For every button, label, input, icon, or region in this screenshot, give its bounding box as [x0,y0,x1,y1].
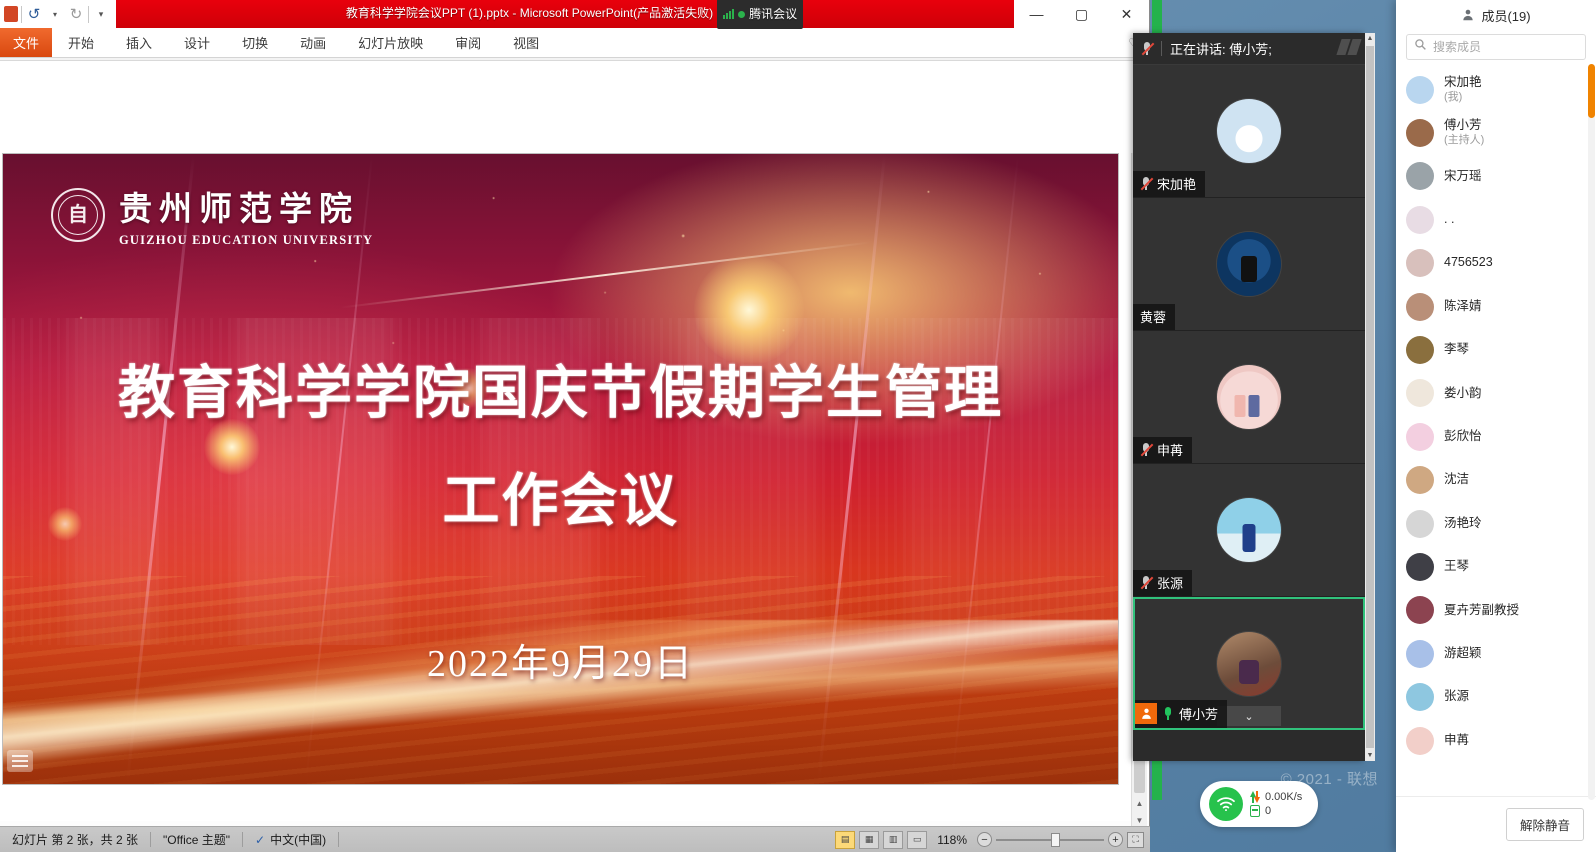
divider [1161,41,1162,56]
maximize-button[interactable]: ▢ [1059,0,1104,28]
search-input[interactable] [1433,40,1578,54]
video-tile-active-speaker[interactable]: ⌄ 傅小芳 [1133,597,1365,730]
network-speed-value: 0.00K/s [1265,791,1302,803]
tencent-meeting-badge[interactable]: 腾讯会议 [717,0,803,29]
status-language[interactable]: ✓ 中文(中国) [243,831,338,848]
unmute-button[interactable]: 解除静音 [1506,808,1584,841]
view-button-reading[interactable]: ▥ [883,831,903,849]
zoom-level-label[interactable]: 118% [931,833,973,847]
powerpoint-status-bar: 幻灯片 第 2 张，共 2 张 "Office 主题" ✓ 中文(中国) ▤ ▦… [0,826,1150,852]
member-name: 宋加艳 [1444,75,1482,91]
member-name: 申苒 [1444,733,1469,749]
tab-insert[interactable]: 插入 [110,28,168,57]
network-packets-row: 0 [1250,805,1302,817]
members-panel-header: 成员(19) [1396,0,1596,30]
zoom-slider[interactable] [996,833,1104,847]
avatar [1406,423,1434,451]
video-tile[interactable]: 申苒 [1133,331,1365,464]
view-button-slideshow[interactable]: ▭ [907,831,927,849]
slide-title-line-1: 教育科学学院国庆节假期学生管理 [3,340,1118,448]
list-item[interactable]: 游超颖 [1396,632,1596,675]
avatar [1406,553,1434,581]
member-name: 沈洁 [1444,472,1469,488]
tab-transitions[interactable]: 切换 [226,28,284,57]
fit-slide-to-window-button[interactable]: ⛶ [1127,832,1144,848]
member-name: 陈泽婧 [1444,299,1482,315]
powerpoint-titlebar: ↺ ▾ ↻ ▾ 教育科学学院会议PPT (1).pptx - Microsoft… [0,0,1149,28]
tencent-meeting-logo-icon [1339,39,1359,55]
meeting-video-filmstrip: 正在讲话: 傅小芳; 宋加艳 黄蓉 申苒 [1133,33,1365,761]
window-controls: — ▢ ✕ [1014,0,1149,28]
screen-root: © 2021 - 联想 ↺ ▾ ↻ ▾ 教育科学学院会议PPT (1).pptx… [0,0,1596,852]
slide-title-line-2: 工作会议 [3,448,1118,556]
close-button[interactable]: ✕ [1104,0,1149,28]
status-slide-count: 幻灯片 第 2 张，共 2 张 [0,831,150,848]
members-scrollbar-track[interactable] [1588,64,1595,800]
member-name: 彭欣怡 [1444,429,1482,445]
host-badge-icon [1135,703,1157,724]
list-item[interactable]: 宋万瑶 [1396,155,1596,198]
network-speed-row: 0.00K/s [1250,791,1302,803]
member-name: 夏卉芳副教授 [1444,603,1519,619]
customize-qat-icon[interactable]: ▾ [92,5,110,23]
powerpoint-logo-icon [4,6,18,22]
avatar [1217,99,1281,163]
avatar [1406,76,1434,104]
window-title: 教育科学学院会议PPT (1).pptx - Microsoft PowerPo… [0,0,1149,29]
powerpoint-window: ↺ ▾ ↻ ▾ 教育科学学院会议PPT (1).pptx - Microsoft… [0,0,1150,852]
video-tile-label: 黄蓉 [1133,304,1175,330]
list-item[interactable]: 王琴 [1396,545,1596,588]
mic-muted-icon [1140,176,1152,191]
window-title-text: 教育科学学院会议PPT (1).pptx - Microsoft PowerPo… [346,6,713,20]
tab-slideshow[interactable]: 幻灯片放映 [342,28,439,57]
zoom-out-button[interactable]: − [977,832,992,847]
previous-slide-icon[interactable]: ▲ [1136,799,1144,808]
scroll-down-icon[interactable]: ▼ [1367,750,1374,761]
slide-title[interactable]: 教育科学学院国庆节假期学生管理 工作会议 [3,340,1118,557]
tab-design[interactable]: 设计 [168,28,226,57]
list-item[interactable]: 汤艳玲 [1396,502,1596,545]
avatar [1406,683,1434,711]
participant-name: 张源 [1157,573,1183,592]
slideshow-overlay-menu-icon[interactable] [7,750,33,772]
members-search-row [1396,30,1596,68]
divider [88,6,89,23]
mic-muted-icon [1141,41,1153,56]
undo-dropdown-icon[interactable]: ▾ [46,5,64,23]
zoom-slider-handle[interactable] [1051,833,1060,847]
divider [338,832,339,847]
list-item[interactable]: 傅小芳 (主持人) [1396,111,1596,154]
view-button-slide-sorter[interactable]: ▦ [859,831,879,849]
participant-name: 宋加艳 [1157,174,1196,193]
network-speed-widget[interactable]: 0.00K/s 0 [1200,781,1318,827]
list-item[interactable]: 李琴 [1396,328,1596,371]
person-icon [1461,8,1475,22]
tab-view[interactable]: 视图 [497,28,555,57]
tab-animations[interactable]: 动画 [284,28,342,57]
filmstrip-scrollbar[interactable]: ▲ ▼ [1365,33,1375,761]
list-item[interactable]: 4756523 [1396,242,1596,285]
avatar [1406,640,1434,668]
tab-review[interactable]: 审阅 [439,28,497,57]
video-tile-label: 宋加艳 [1133,171,1205,197]
status-language-label: 中文(中国) [270,831,326,848]
member-name: 王琴 [1444,559,1469,575]
scroll-up-icon[interactable]: ▲ [1367,33,1374,44]
members-panel-footer: 解除静音 [1396,796,1596,852]
list-item[interactable]: 夏卉芳副教授 [1396,589,1596,632]
university-seal-icon: 自 [51,188,105,242]
recording-dot-icon [738,11,745,18]
member-role: (我) [1444,91,1482,105]
zoom-slider-track [996,839,1104,841]
filmstrip-header: 正在讲话: 傅小芳; [1133,33,1365,65]
video-tile-label: 申苒 [1133,437,1192,463]
ribbon-tab-bar: 文件 开始 插入 设计 切换 动画 幻灯片放映 审阅 视图 ♡ [0,28,1149,58]
list-item[interactable]: 沈洁 [1396,459,1596,502]
avatar [1406,293,1434,321]
members-list: 宋加艳 (我) 傅小芳 (主持人) 宋万瑶 . . 4 [1396,68,1596,796]
member-name: 游超颖 [1444,646,1482,662]
member-name: 4756523 [1444,255,1493,271]
mic-muted-icon [1140,442,1152,457]
scrollbar-thumb[interactable] [1366,46,1374,748]
member-role: (主持人) [1444,134,1484,148]
avatar [1406,162,1434,190]
slide-canvas-area: 自 贵州师范学院 GUIZHOU EDUCATION UNIVERSITY 教育… [0,61,1149,821]
avatar [1406,206,1434,234]
slide-date[interactable]: 2022年9月29日 [3,632,1118,687]
quick-access-toolbar: ↺ ▾ ↻ ▾ [0,0,116,28]
participant-name: 黄蓉 [1140,307,1166,326]
avatar [1406,510,1434,538]
avatar [1217,232,1281,296]
list-item[interactable]: 彭欣怡 [1396,415,1596,458]
status-theme[interactable]: "Office 主题" [151,831,242,848]
member-name: . . [1444,212,1454,228]
avatar [1406,379,1434,407]
member-name: 张源 [1444,689,1469,705]
view-button-normal[interactable]: ▤ [835,831,855,849]
avatar [1217,365,1281,429]
avatar [1406,119,1434,147]
network-packets-value: 0 [1265,805,1271,817]
member-name: 宋万瑶 [1444,169,1482,185]
video-tile[interactable]: 黄蓉 [1133,198,1365,331]
list-item[interactable]: 陈泽婧 [1396,285,1596,328]
search-icon [1414,38,1427,56]
undo-icon[interactable]: ↺ [25,5,43,23]
previous-next-slide-buttons[interactable]: ▲ ▼ [1132,795,1147,829]
wifi-icon [1209,787,1243,821]
university-name-en: GUIZHOU EDUCATION UNIVERSITY [119,233,373,248]
tencent-meeting-label: 腾讯会议 [749,0,797,28]
video-tile[interactable]: 宋加艳 [1133,65,1365,198]
avatar [1406,466,1434,494]
upload-download-icon [1250,791,1260,803]
participant-name: 傅小芳 [1179,704,1218,723]
members-panel: 成员(19) 宋加艳 (我) 傅 [1396,0,1596,852]
members-count-label: 成员(19) [1481,6,1530,25]
list-item[interactable]: 张源 [1396,675,1596,718]
members-scrollbar-thumb[interactable] [1588,64,1595,118]
list-item[interactable]: 宋加艳 (我) [1396,68,1596,111]
university-name-cn: 贵州师范学院 [119,182,373,230]
member-name: 李琴 [1444,342,1469,358]
divider [21,6,22,23]
list-item[interactable]: . . [1396,198,1596,241]
avatar [1217,632,1281,696]
redo-icon[interactable]: ↻ [67,5,85,23]
member-name: 傅小芳 [1444,118,1484,134]
member-name: 汤艳玲 [1444,516,1482,532]
avatar [1217,498,1281,562]
university-logo: 自 贵州师范学院 GUIZHOU EDUCATION UNIVERSITY [51,182,373,248]
search-box[interactable] [1406,34,1586,60]
avatar [1406,596,1434,624]
active-speaker-label: 正在讲话: 傅小芳; [1170,39,1272,58]
slide-surface[interactable]: 自 贵州师范学院 GUIZHOU EDUCATION UNIVERSITY 教育… [2,153,1119,785]
avatar [1406,249,1434,277]
tab-file[interactable]: 文件 [0,28,52,57]
list-item[interactable]: 娄小韵 [1396,372,1596,415]
list-item[interactable]: 申苒 [1396,719,1596,762]
spellcheck-icon: ✓ [255,833,265,847]
packet-icon [1250,805,1260,817]
video-tile-label: 张源 [1133,570,1192,596]
mic-muted-icon [1140,575,1152,590]
tab-home[interactable]: 开始 [52,28,110,57]
signal-icon [723,9,734,19]
participant-name: 申苒 [1157,440,1183,459]
video-tile-label: 傅小芳 [1135,700,1227,728]
member-name: 娄小韵 [1444,386,1482,402]
minimize-button[interactable]: — [1014,0,1059,28]
status-right-group: ▤ ▦ ▥ ▭ 118% − + ⛶ [835,831,1150,849]
mic-active-icon [1162,706,1174,721]
avatar [1406,336,1434,364]
avatar [1406,727,1434,755]
zoom-in-button[interactable]: + [1108,832,1123,847]
video-tile[interactable]: 张源 [1133,464,1365,597]
next-slide-icon[interactable]: ▼ [1136,816,1144,825]
network-stats: 0.00K/s 0 [1250,791,1302,817]
seal-glyph: 自 [68,205,88,225]
